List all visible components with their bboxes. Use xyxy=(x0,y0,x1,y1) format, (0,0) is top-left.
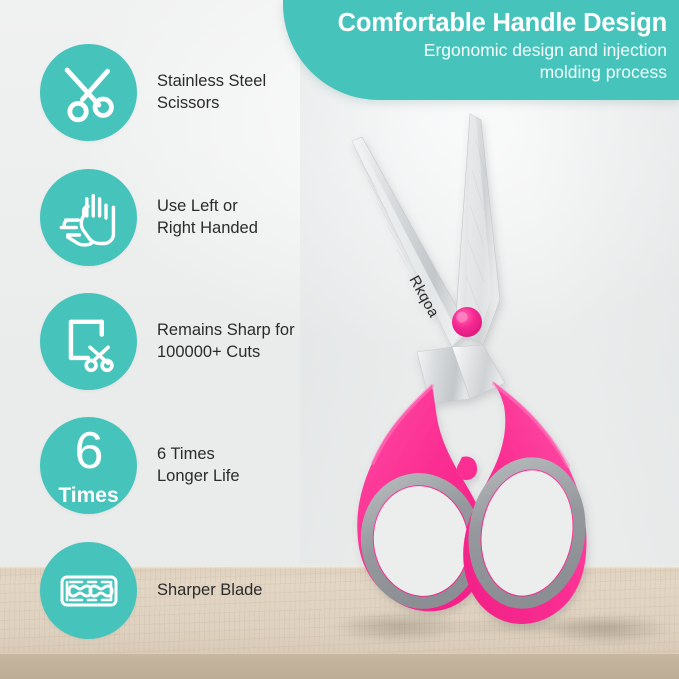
scissors-shadow-left xyxy=(336,612,462,642)
two-hands-icon xyxy=(40,169,137,266)
banner-subtitle-line2: molding process xyxy=(283,62,667,83)
feature-label: Use Left or Right Handed xyxy=(157,196,258,238)
banner-title: Comfortable Handle Design xyxy=(283,9,667,38)
banner-subtitle-line1: Ergonomic design and injection xyxy=(283,40,667,61)
feature-label: Sharper Blade xyxy=(157,580,263,601)
feature-label: Remains Sharp for 100000+ Cuts xyxy=(157,320,295,362)
cut-paper-icon xyxy=(40,293,137,390)
scissors-shadow-right xyxy=(548,614,668,644)
feature-item-stainless-steel-scissors: Stainless Steel Scissors xyxy=(40,44,266,141)
badge-word: Times xyxy=(40,485,137,506)
scissors-icon xyxy=(40,44,137,141)
feature-item-sharper-blade: Sharper Blade xyxy=(40,542,263,639)
feature-item-remains-sharp: Remains Sharp for 100000+ Cuts xyxy=(40,293,295,390)
badge-number: 6 xyxy=(40,425,137,477)
six-times-badge: 6 Times xyxy=(40,417,137,514)
feature-list: Stainless Steel Scissors Use Left or Rig… xyxy=(0,0,340,679)
feature-label: Stainless Steel Scissors xyxy=(157,71,266,113)
header-banner: Comfortable Handle Design Ergonomic desi… xyxy=(283,0,679,100)
feature-item-longer-life: 6 Times 6 Times Longer Life xyxy=(40,417,240,514)
product-infographic: Rkqoa Comfortable Handle Design Ergonomi… xyxy=(0,0,679,679)
razor-blade-icon xyxy=(40,542,137,639)
feature-label: 6 Times Longer Life xyxy=(157,444,240,486)
feature-item-left-or-right-handed: Use Left or Right Handed xyxy=(40,169,258,266)
